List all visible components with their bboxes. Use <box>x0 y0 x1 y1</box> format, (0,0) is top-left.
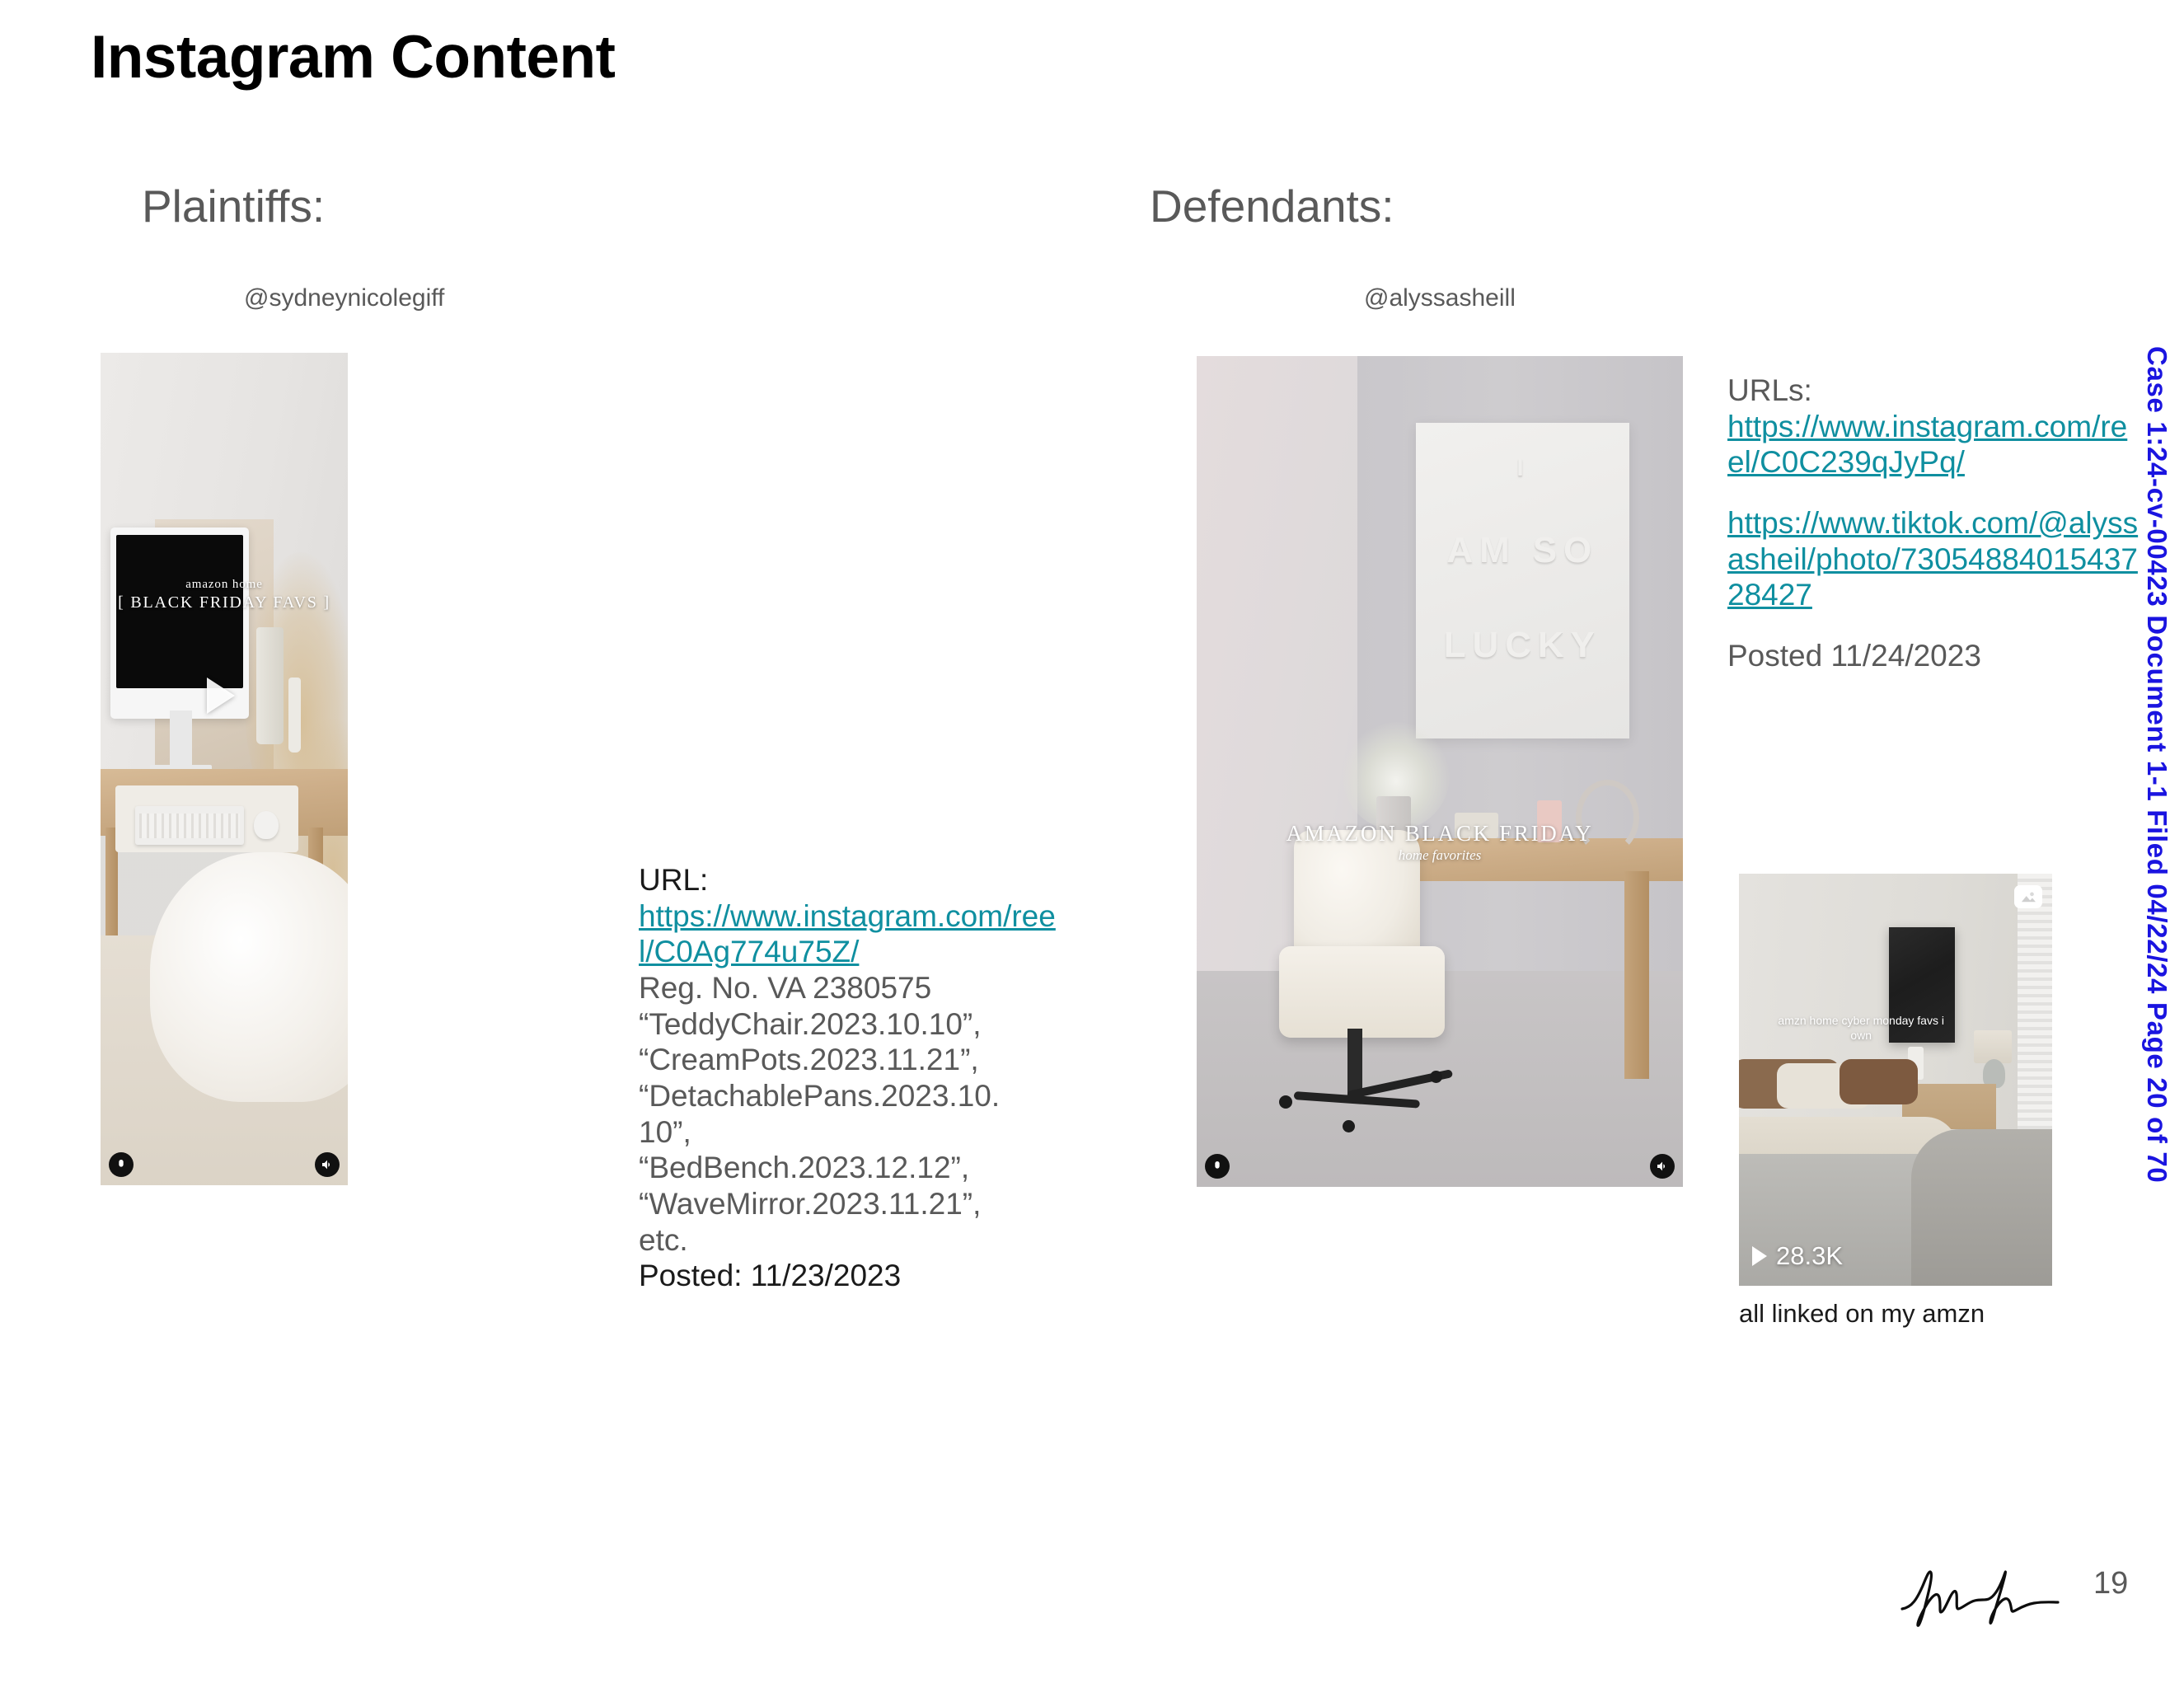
teddy-chair <box>150 852 348 1102</box>
spacer <box>1727 481 2139 505</box>
tiktok-caption: all linked on my amzn <box>1739 1299 2052 1329</box>
blanket-grey-right <box>1911 1129 2052 1286</box>
defendant-reel-image: I AM SO LUCKY AM <box>1197 356 1683 1187</box>
defendants-heading: Defendants: <box>1150 180 1394 232</box>
photo-carousel-icon <box>2014 885 2042 908</box>
work-title: “BedBench.2023.12.12”, <box>639 1150 1067 1186</box>
urls-label: URLs: <box>1727 373 2139 409</box>
registration-number: Reg. No. VA 2380575 <box>639 970 1067 1006</box>
work-title: “WaveMirror.2023.11.21”, <box>639 1186 1067 1222</box>
keyboard <box>135 806 244 844</box>
vase <box>256 627 284 743</box>
bedroom-scene <box>1739 874 2052 1286</box>
desk-book <box>1455 813 1498 837</box>
desk-leg <box>1624 871 1649 1079</box>
work-title-etc: etc. <box>639 1222 1067 1259</box>
plaintiff-details: URL: https://www.instagram.com/reel/C0Ag… <box>639 862 1067 1294</box>
work-title: 10”, <box>639 1114 1067 1151</box>
slide-page: Instagram Content Plaintiffs: @sydneynic… <box>0 0 2184 1688</box>
page-title: Instagram Content <box>91 23 615 91</box>
defendant-details: URLs: https://www.instagram.com/reel/C0C… <box>1727 373 2139 674</box>
chair-caster-2 <box>1430 1071 1442 1083</box>
posted-date: Posted 11/24/2023 <box>1727 638 2139 674</box>
plaintiffs-heading: Plaintiffs: <box>142 180 325 232</box>
wall-art-canvas: I AM SO LUCKY <box>1416 423 1630 738</box>
monitor-screen <box>116 535 244 688</box>
bedroom-wall-art <box>1889 927 1955 1043</box>
small-bottle <box>288 678 301 753</box>
headphones <box>1576 780 1639 855</box>
wall-art-word-2: AM SO <box>1416 530 1630 571</box>
court-filing-stamp: Case 1:24-cv-00423 Document 1-1 Filed 04… <box>2141 346 2172 1183</box>
tiktok-thumbnail-card[interactable]: amzn home cyber monday favs i own 28.3K … <box>1739 874 2052 1329</box>
reel-mute-icon[interactable] <box>1650 1154 1675 1179</box>
spacer <box>1727 613 2139 638</box>
view-count-value: 28.3K <box>1776 1241 1843 1271</box>
tiktok-view-count: 28.3K <box>1752 1241 1843 1271</box>
work-title: “DetachablePans.2023.10. <box>639 1078 1067 1114</box>
desk-scene <box>101 353 348 1185</box>
desk-bottle <box>1537 800 1562 842</box>
page-number: 19 <box>2093 1566 2128 1601</box>
play-icon[interactable] <box>207 678 235 714</box>
reel-audio-icon[interactable] <box>1205 1154 1230 1179</box>
lamp-shade <box>1974 1030 2012 1063</box>
corner-scene: I AM SO LUCKY <box>1197 356 1683 1187</box>
tiktok-thumbnail-image[interactable]: amzn home cyber monday favs i own 28.3K <box>1739 874 2052 1286</box>
play-icon <box>1752 1246 1767 1266</box>
defendant-instagram-url-link[interactable]: https://www.instagram.com/reel/C0C239qJy… <box>1727 409 2139 481</box>
monitor-stand <box>170 710 192 769</box>
defendant-tiktok-url-link[interactable]: https://www.tiktok.com/@alyssasheil/phot… <box>1727 505 2139 613</box>
plaintiff-reel-image: amazon home [ BLACK FRIDAY FAVS ] <box>101 353 348 1185</box>
url-label: URL: <box>639 862 1067 898</box>
plaintiff-handle: @sydneynicolegiff <box>244 284 444 312</box>
wall-art-word-1: I <box>1416 454 1630 482</box>
reel-mute-icon[interactable] <box>315 1152 340 1177</box>
work-title: “TeddyChair.2023.10.10”, <box>639 1006 1067 1043</box>
handwritten-signature <box>1896 1550 2085 1632</box>
defendant-handle: @alyssasheill <box>1364 284 1516 312</box>
work-title: “CreamPots.2023.11.21”, <box>639 1042 1067 1078</box>
reel-audio-icon[interactable] <box>109 1152 134 1177</box>
posted-date: Posted: 11/23/2023 <box>639 1258 1067 1294</box>
mouse <box>254 811 279 839</box>
chair-post <box>1347 1029 1362 1095</box>
office-chair-seat <box>1279 946 1445 1038</box>
wall-art-word-3: LUCKY <box>1416 625 1630 666</box>
plaintiff-url-link[interactable]: https://www.instagram.com/reel/C0Ag774u7… <box>639 898 1067 970</box>
